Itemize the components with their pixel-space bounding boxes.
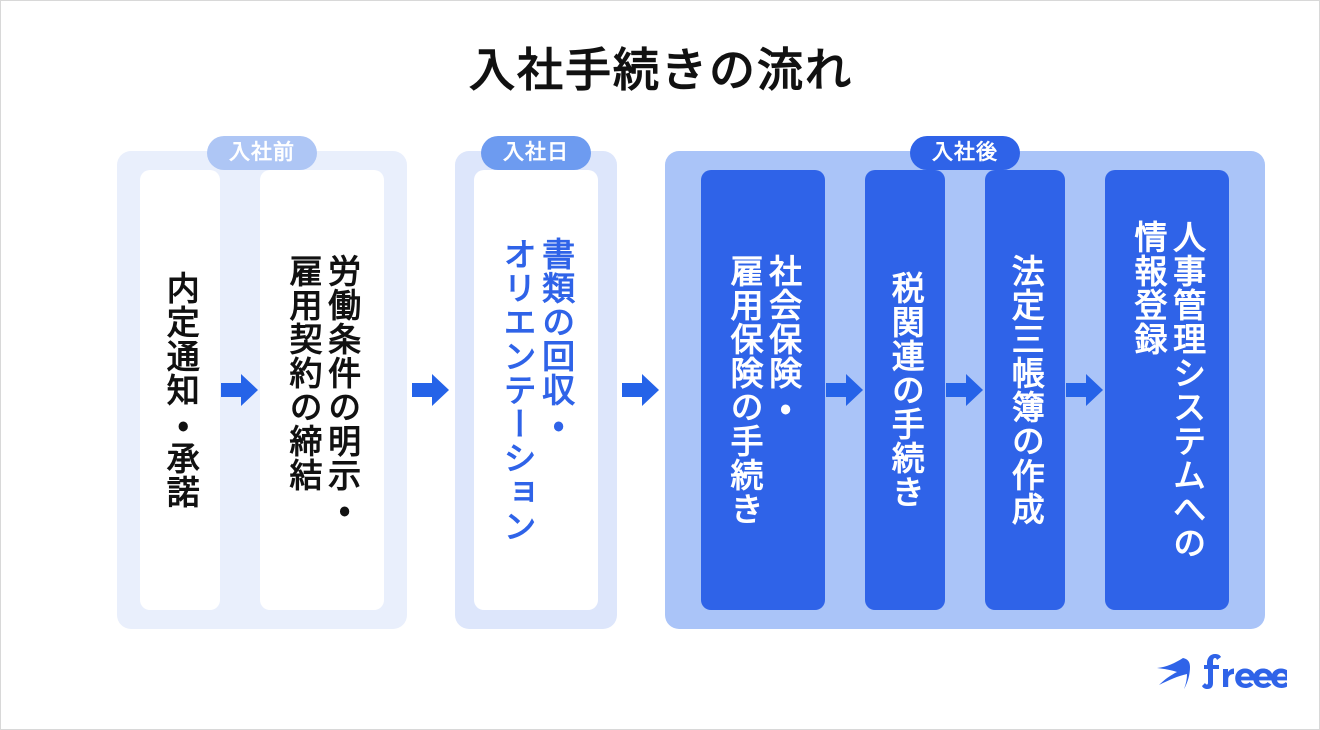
phase-group-day: 入社日 書類の回収・ オリエンテーション <box>455 151 617 629</box>
phase-pill-post: 入社後 <box>910 136 1020 170</box>
arrow-right-icon <box>220 151 260 629</box>
step-card-3-label: 書類の回収・ オリエンテーション <box>497 237 574 543</box>
step-card-6-label: 法定三帳簿の作成 <box>1006 254 1045 526</box>
arrow-right-icon <box>617 151 665 629</box>
freee-logo <box>1137 641 1287 695</box>
step-card-7[interactable]: 人事管理システムへの 情報登録 <box>1105 170 1229 610</box>
step-card-7-label: 人事管理システムへの 情報登録 <box>1128 220 1205 560</box>
phase-group-post: 入社後 社会保険・ 雇用保険の手続き 税関連の手続き <box>665 151 1265 629</box>
arrow-right-icon <box>945 151 985 629</box>
step-card-2-label: 労働条件の明示・ 雇用契約の締結 <box>283 254 360 526</box>
step-card-6[interactable]: 法定三帳簿の作成 <box>985 170 1065 610</box>
phase-group-day-steps: 書類の回収・ オリエンテーション <box>455 151 617 629</box>
phase-group-pre-steps: 内定通知・承諾 労働条件の明示・ 雇用契約の締結 <box>117 151 407 629</box>
phase-pill-day: 入社日 <box>481 136 591 170</box>
step-card-1[interactable]: 内定通知・承諾 <box>140 170 220 610</box>
phase-group-pre: 入社前 内定通知・承諾 労働条件の明示・ 雇用契約の締結 <box>117 151 407 629</box>
step-card-4-label: 社会保険・ 雇用保険の手続き <box>724 254 801 526</box>
step-card-5-label: 税関連の手続き <box>886 271 925 509</box>
phase-group-post-steps: 社会保険・ 雇用保険の手続き 税関連の手続き 法定三帳簿の作成 <box>665 151 1265 629</box>
page-title: 入社手続きの流れ <box>1 45 1320 96</box>
step-card-5[interactable]: 税関連の手続き <box>865 170 945 610</box>
step-card-2[interactable]: 労働条件の明示・ 雇用契約の締結 <box>260 170 384 610</box>
process-flow: 入社前 内定通知・承諾 労働条件の明示・ 雇用契約の締結 <box>117 151 1209 629</box>
slide-canvas: 入社手続きの流れ 入社前 内定通知・承諾 労働条件の明示・ 雇用契約の締結 <box>0 0 1320 730</box>
phase-pill-pre: 入社前 <box>207 136 317 170</box>
step-card-4[interactable]: 社会保険・ 雇用保険の手続き <box>701 170 825 610</box>
arrow-right-icon <box>1065 151 1105 629</box>
arrow-right-icon <box>825 151 865 629</box>
step-card-1-label: 内定通知・承諾 <box>161 271 200 509</box>
arrow-right-icon <box>407 151 455 629</box>
step-card-3[interactable]: 書類の回収・ オリエンテーション <box>474 170 598 610</box>
